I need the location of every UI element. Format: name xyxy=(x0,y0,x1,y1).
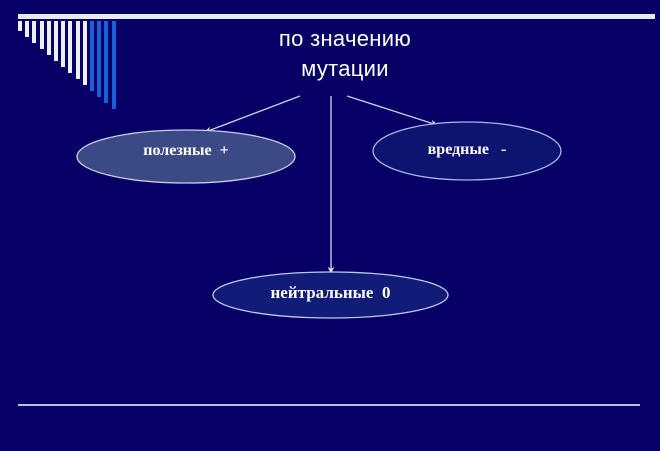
node-harmful-label: вредные - xyxy=(373,141,561,159)
bottom-divider-rule xyxy=(18,404,640,406)
arrow-to-useful xyxy=(208,96,300,131)
arrow-to-harmful xyxy=(347,96,434,124)
slide-canvas: по значению мутации полезные + вредные -… xyxy=(0,0,660,451)
node-useful-label: полезные + xyxy=(77,142,295,160)
connector-and-shape-layer xyxy=(0,0,660,451)
node-neutral-label: нейтральные 0 xyxy=(213,283,448,303)
